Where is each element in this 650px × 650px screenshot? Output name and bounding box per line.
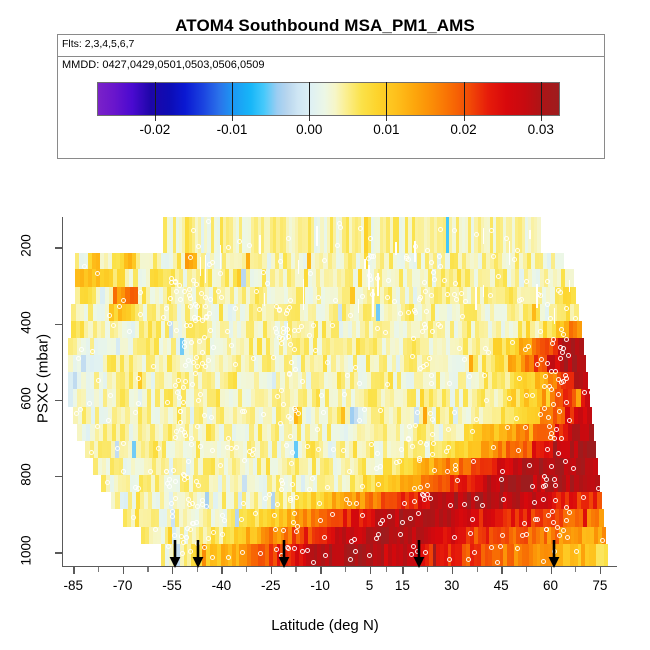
x-axis-tick — [73, 567, 74, 574]
x-axis-tick — [402, 567, 403, 574]
x-axis-minor-tick — [345, 567, 346, 572]
y-axis-tick — [55, 552, 62, 553]
y-axis-tick — [55, 247, 62, 248]
colorbar-tick-mark — [309, 116, 310, 121]
x-axis-minor-tick — [98, 567, 99, 572]
colorbar-tick-mark — [232, 116, 233, 121]
colorbar-tick-mark — [541, 116, 542, 121]
colorbar-box — [97, 82, 560, 116]
colorbar-tick-label: -0.02 — [120, 122, 190, 137]
y-axis-tick-label: 600 — [19, 370, 34, 426]
colorbar-tick-label: 0.00 — [274, 122, 344, 137]
x-axis-minor-tick — [295, 567, 296, 572]
y-axis-tick — [55, 324, 62, 325]
colorbar-tick — [464, 82, 465, 116]
colorbar-tick-label: 0.01 — [351, 122, 421, 137]
x-axis-tick — [320, 567, 321, 574]
x-axis-tick — [551, 567, 552, 574]
header-divider — [57, 56, 605, 57]
profile-arrow — [277, 540, 291, 568]
figure-root: ATOM4 Southbound MSA_PM1_AMS Flts: 2,3,4… — [0, 0, 650, 650]
x-axis-tick — [600, 567, 601, 574]
colorbar-tick-label: 0.03 — [506, 122, 576, 137]
x-axis-tick — [221, 567, 222, 574]
plot-frame — [62, 217, 617, 567]
colorbar-tick — [155, 82, 156, 116]
x-axis-tick — [172, 567, 173, 574]
colorbar-tick-mark — [386, 116, 387, 121]
colorbar-tick — [309, 82, 310, 116]
x-axis-tick — [271, 567, 272, 574]
x-axis-tick — [370, 567, 371, 574]
y-axis-tick-label: 400 — [19, 294, 34, 350]
y-axis-title: PSXC (mbar) — [35, 294, 52, 464]
profile-arrow — [547, 540, 561, 568]
colorbar-tick — [232, 82, 233, 116]
profile-arrow — [168, 540, 182, 568]
x-axis-title: Latitude (deg N) — [0, 617, 650, 634]
y-axis-tick-label: 1000 — [19, 523, 34, 579]
profile-arrow — [191, 540, 205, 568]
profile-arrow — [412, 540, 426, 568]
x-axis-minor-tick — [246, 567, 247, 572]
y-axis-tick-label: 800 — [19, 447, 34, 503]
x-axis-minor-tick — [386, 567, 387, 572]
colorbar-tick-label: 0.02 — [429, 122, 499, 137]
x-axis-tick-label: 75 — [570, 578, 630, 593]
y-axis-tick-label: 200 — [19, 218, 34, 274]
y-axis-tick — [55, 476, 62, 477]
figure-title: ATOM4 Southbound MSA_PM1_AMS — [0, 16, 650, 36]
mmdd-label: MMDD: 0427,0429,0501,0503,0506,0509 — [62, 59, 264, 71]
flights-label: Flts: 2,3,4,5,6,7 — [62, 38, 134, 50]
x-axis-minor-tick — [427, 567, 428, 572]
colorbar-tick-mark — [155, 116, 156, 121]
colorbar-tick — [541, 82, 542, 116]
colorbar-tick-mark — [464, 116, 465, 121]
colorbar-tick — [386, 82, 387, 116]
x-axis-minor-tick — [526, 567, 527, 572]
y-axis-tick — [55, 400, 62, 401]
x-axis-tick — [501, 567, 502, 574]
x-axis-minor-tick — [147, 567, 148, 572]
x-axis-minor-tick — [575, 567, 576, 572]
colorbar-tick-label: -0.01 — [197, 122, 267, 137]
x-axis-minor-tick — [477, 567, 478, 572]
x-axis-tick — [452, 567, 453, 574]
colorbar-gradient — [98, 83, 559, 115]
x-axis-tick — [123, 567, 124, 574]
colorbar: -0.02-0.010.000.010.020.03 — [97, 82, 560, 116]
